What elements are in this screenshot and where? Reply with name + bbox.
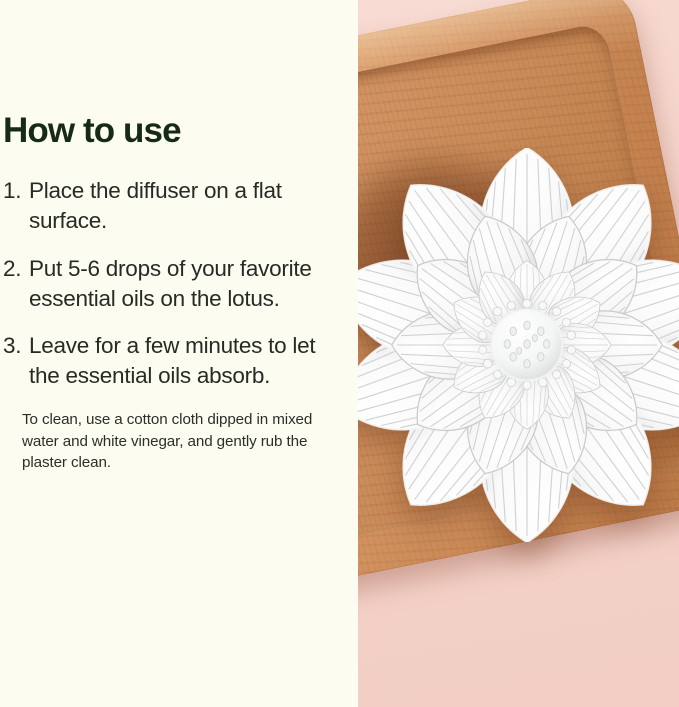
lotus-diffuser <box>358 148 679 542</box>
product-photo <box>358 0 679 707</box>
page-title: How to use <box>3 112 333 150</box>
instructions-panel: How to use 1. Place the diffuser on a fl… <box>0 0 358 707</box>
step-text: Put 5-6 drops of your favorite essential… <box>29 254 333 314</box>
cleaning-note: To clean, use a cotton cloth dipped in m… <box>22 409 322 474</box>
step-text: Place the diffuser on a flat surface. <box>29 176 333 236</box>
step-text: Leave for a few minutes to let the essen… <box>29 331 333 391</box>
product-instruction-panel: How to use 1. Place the diffuser on a fl… <box>0 0 679 707</box>
step-number: 1. <box>3 176 29 206</box>
lotus-flower-graphic <box>358 148 679 542</box>
list-item: 1. Place the diffuser on a flat surface. <box>3 176 333 236</box>
list-item: 2. Put 5-6 drops of your favorite essent… <box>3 254 333 314</box>
step-number: 3. <box>3 331 29 361</box>
instructions-content: How to use 1. Place the diffuser on a fl… <box>3 112 333 489</box>
how-to-use-steps-list: 1. Place the diffuser on a flat surface.… <box>3 176 333 392</box>
step-number: 2. <box>3 254 29 284</box>
list-item: 3. Leave for a few minutes to let the es… <box>3 331 333 391</box>
